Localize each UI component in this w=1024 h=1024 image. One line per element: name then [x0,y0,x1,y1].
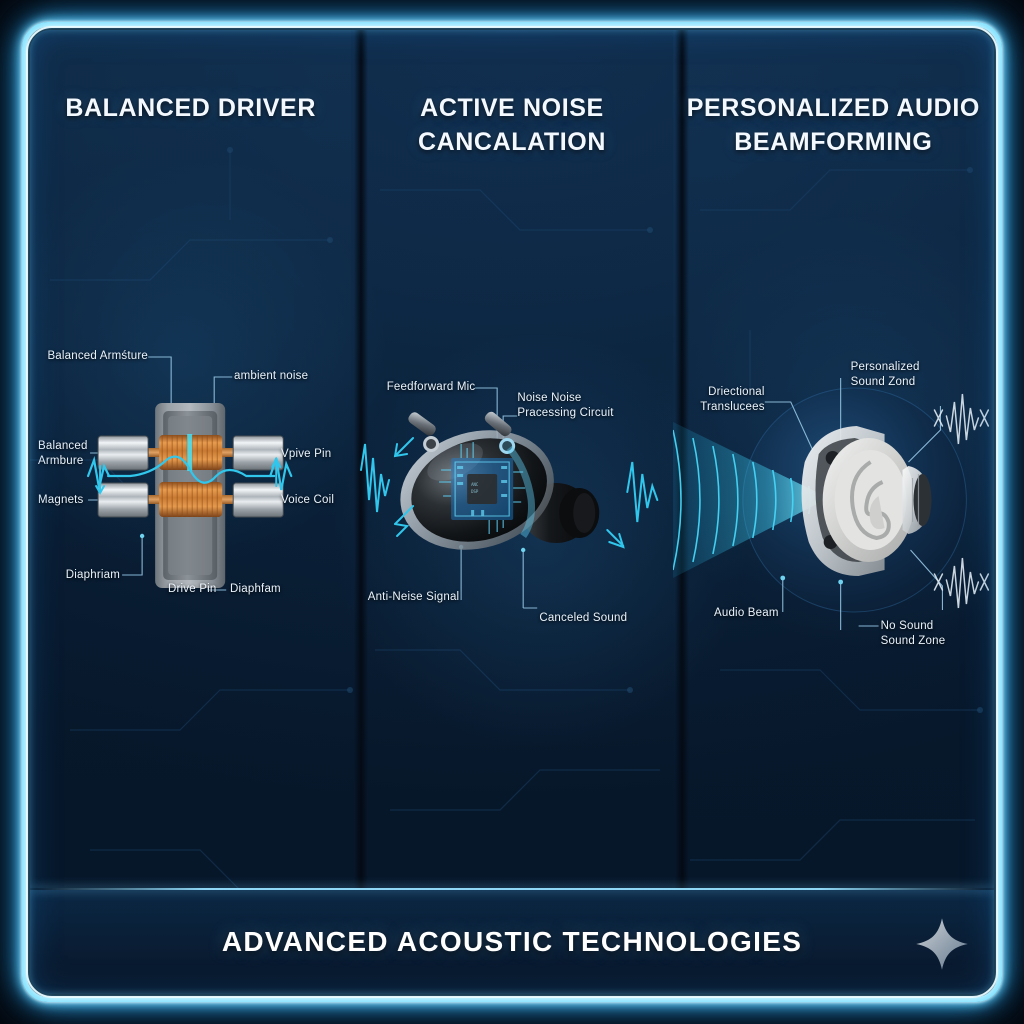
panel-active-noise-cancalation: ACTIVE NOISE CANCALATION [351,30,672,994]
sparkle-icon [914,916,970,972]
label-no-sound-zone: No Sound Sound Zone [881,619,981,649]
panel-title-active-noise-cancalation: ACTIVE NOISE CANCALATION [351,92,672,159]
label-noise-processing-circuit: Noise Noise Pracessing Circuit [517,391,647,421]
footer-title: ADVANCED ACOUSTIC TECHNOLOGIES [222,926,802,958]
svg-text:DSP: DSP [471,489,479,494]
balanced-driver-diagram [30,30,351,994]
panel-row: BALANCED DRIVER [30,30,994,994]
label-feedforward-mic: Feedforward Mic [357,380,475,395]
footer-banner: ADVANCED ACOUSTIC TECHNOLOGIES [30,890,994,994]
label-voice-coil: Voice Coil [281,493,351,508]
panel-title-balanced-driver: BALANCED DRIVER [30,92,351,126]
label-audio-beam: Audio Beam [687,606,779,621]
infographic-root: BALANCED DRIVER [0,0,1024,1024]
label-canceled-sound: Canceled Sound [539,611,649,626]
label-diaphragm-left: Diaphriam [38,568,120,583]
label-personalized-sound-zone: Personalized Sound Zond [851,360,961,390]
label-diaphragm-right: Diaphfam [230,582,300,597]
panel-balanced-driver: BALANCED DRIVER [30,30,351,994]
panel-title-personalized-audio-beamforming: PERSONALIZED AUDIO BEAMFORMING [673,92,994,159]
label-anti-noise-signal: Anti-Neise Signal [359,590,459,605]
label-magnets: Magnets [38,493,88,508]
svg-text:ANC: ANC [471,482,479,487]
infographic-board: BALANCED DRIVER [30,30,994,994]
label-balanced-armature-top: Balanced Armśture [38,349,148,364]
panel-personalized-audio-beamforming: PERSONALIZED AUDIO BEAMFORMING [673,30,994,994]
label-ambient-noise: ambient noise [234,369,344,384]
label-directional-transducers: Driectional Translucees [677,385,765,415]
label-drive-pin: Drive Pin [168,582,228,597]
label-balanced-armature-left: Balanced Armbure [38,439,98,469]
label-voice-pin: Vpive Pin [281,447,351,462]
beamforming-diagram [673,30,994,994]
anc-earbud-diagram: ANCDSP [351,30,672,994]
footer-divider-rule [30,888,994,890]
